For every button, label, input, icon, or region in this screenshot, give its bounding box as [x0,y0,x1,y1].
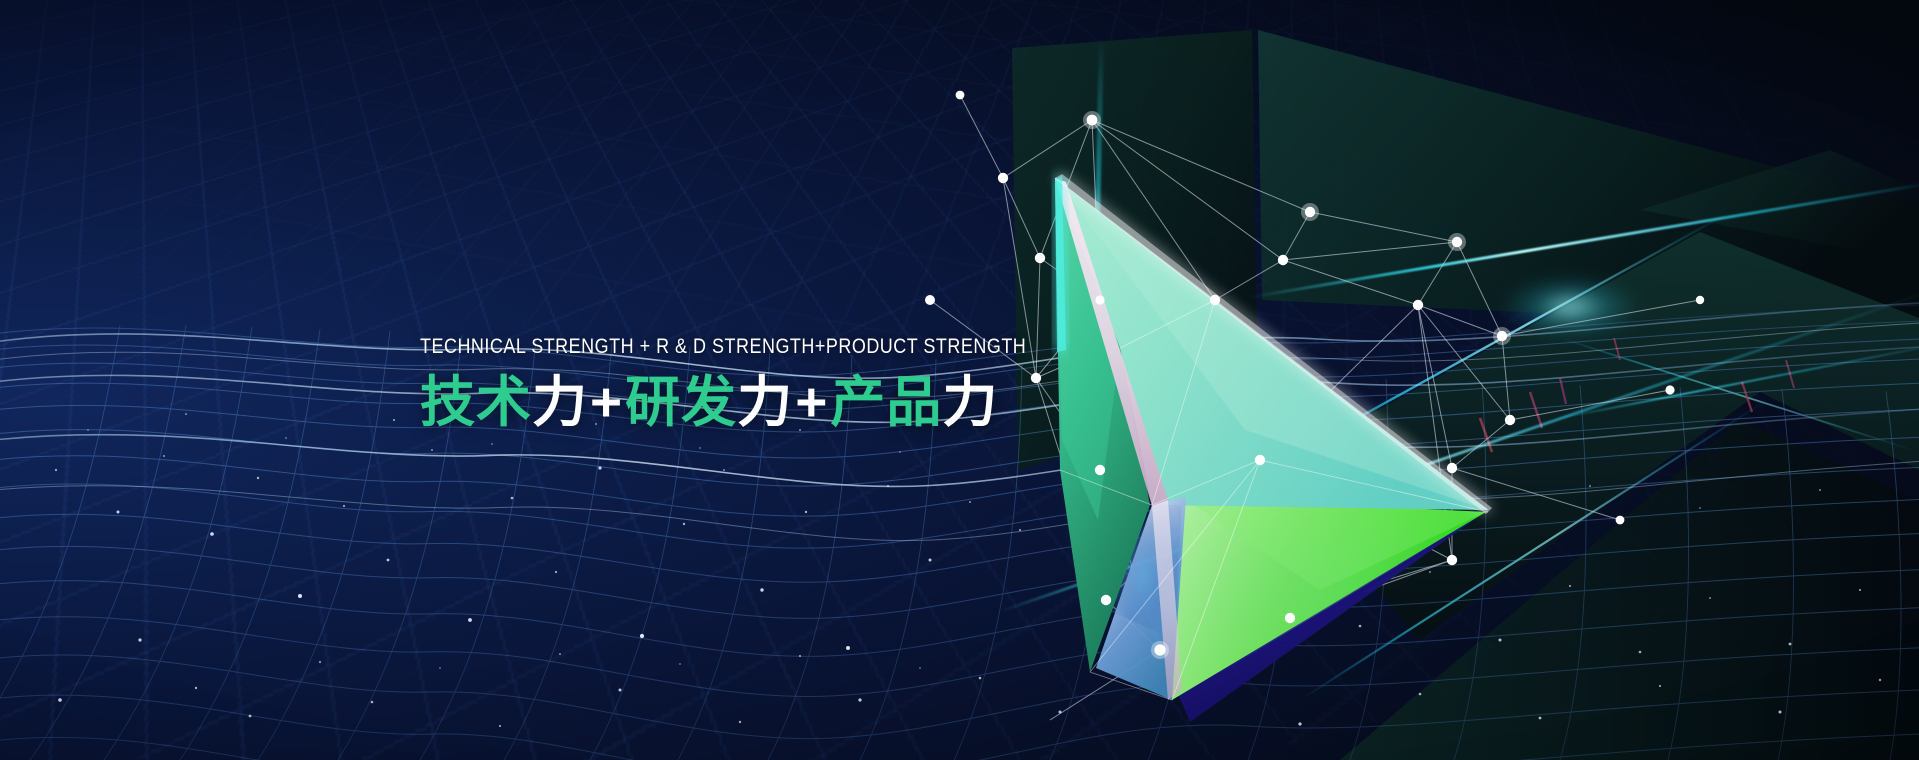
diagonal-beam-lower [1000,291,1919,613]
diagonal-beam-right [1555,338,1919,420]
hero-headline: 技术力+研发力+产品力 [420,373,1129,432]
headline-segment-4: 研发 [625,371,737,433]
headline-segment-5: 力 [737,371,793,433]
hero-banner: TECHNICAL STRENGTH + R & D STRENGTH+PROD… [0,0,1919,760]
hero-eyebrow: TECHNICAL STRENGTH + R & D STRENGTH+PROD… [420,336,1026,357]
diagonal-beam-lower-flare [1255,500,1445,596]
headline-segment-2: 力 [532,371,588,433]
hero-copy: TECHNICAL STRENGTH + R & D STRENGTH+PROD… [420,336,1129,432]
diagonal-beam-upper [1248,180,1919,298]
headline-segment-6: + [793,371,830,433]
headline-segment-7: 产品 [830,371,942,433]
background-grid-sheet-secondary [0,0,1919,643]
headline-segment-1: 技术 [420,371,532,433]
headline-segment-3: + [588,371,625,433]
diagonal-beam-upper-flare [1470,262,1670,352]
vertical-light-beam [1087,38,1104,598]
arrow-prism [1055,174,1492,722]
headline-segment-8: 力 [942,371,998,433]
